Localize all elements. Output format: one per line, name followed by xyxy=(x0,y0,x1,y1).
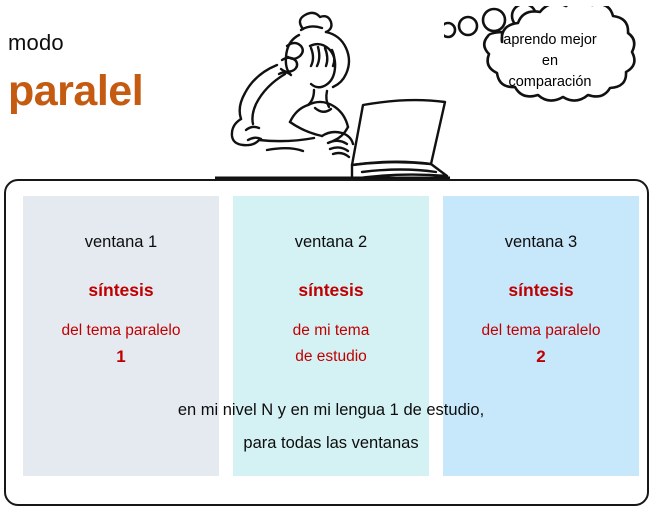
thought-bubble: aprendo mejor en comparación xyxy=(444,6,656,128)
bubble-line-2: en xyxy=(468,51,632,72)
window-3-desc-line-1: del tema paralelo xyxy=(443,318,639,344)
window-2-description: de mi tema de estudio xyxy=(233,318,429,370)
window-1-title: ventana 1 xyxy=(23,232,219,252)
window-3-subtitle: síntesis xyxy=(443,279,639,301)
thought-bubble-text: aprendo mejor en comparación xyxy=(468,30,632,93)
window-1-desc-line-2: 1 xyxy=(23,344,219,370)
mode-name-title: paralel xyxy=(8,66,143,116)
window-2-subtitle: síntesis xyxy=(233,279,429,301)
bubble-line-1: aprendo mejor xyxy=(468,30,632,51)
window-3-desc-line-2: 2 xyxy=(443,344,639,370)
window-column-3[interactable]: ventana 3 síntesis del tema paralelo 2 xyxy=(443,196,639,476)
window-1-description: del tema paralelo 1 xyxy=(23,318,219,370)
window-1-desc-line-1: del tema paralelo xyxy=(23,318,219,344)
bubble-line-3: comparación xyxy=(468,72,632,93)
window-column-2[interactable]: ventana 2 síntesis de mi tema de estudio xyxy=(233,196,429,476)
windows-columns: ventana 1 síntesis del tema paralelo 1 v… xyxy=(23,196,639,476)
window-3-title: ventana 3 xyxy=(443,232,639,252)
window-2-desc-line-1: de mi tema xyxy=(233,318,429,344)
person-studying-at-laptop-icon xyxy=(215,2,450,180)
window-2-title: ventana 2 xyxy=(233,232,429,252)
window-column-1[interactable]: ventana 1 síntesis del tema paralelo 1 xyxy=(23,196,219,476)
window-3-description: del tema paralelo 2 xyxy=(443,318,639,370)
window-1-subtitle: síntesis xyxy=(23,279,219,301)
windows-panel: ventana 1 síntesis del tema paralelo 1 v… xyxy=(4,179,649,506)
window-2-desc-line-2: de estudio xyxy=(233,344,429,370)
mode-label: modo xyxy=(8,30,64,56)
header-area: modo paralel xyxy=(0,0,657,180)
